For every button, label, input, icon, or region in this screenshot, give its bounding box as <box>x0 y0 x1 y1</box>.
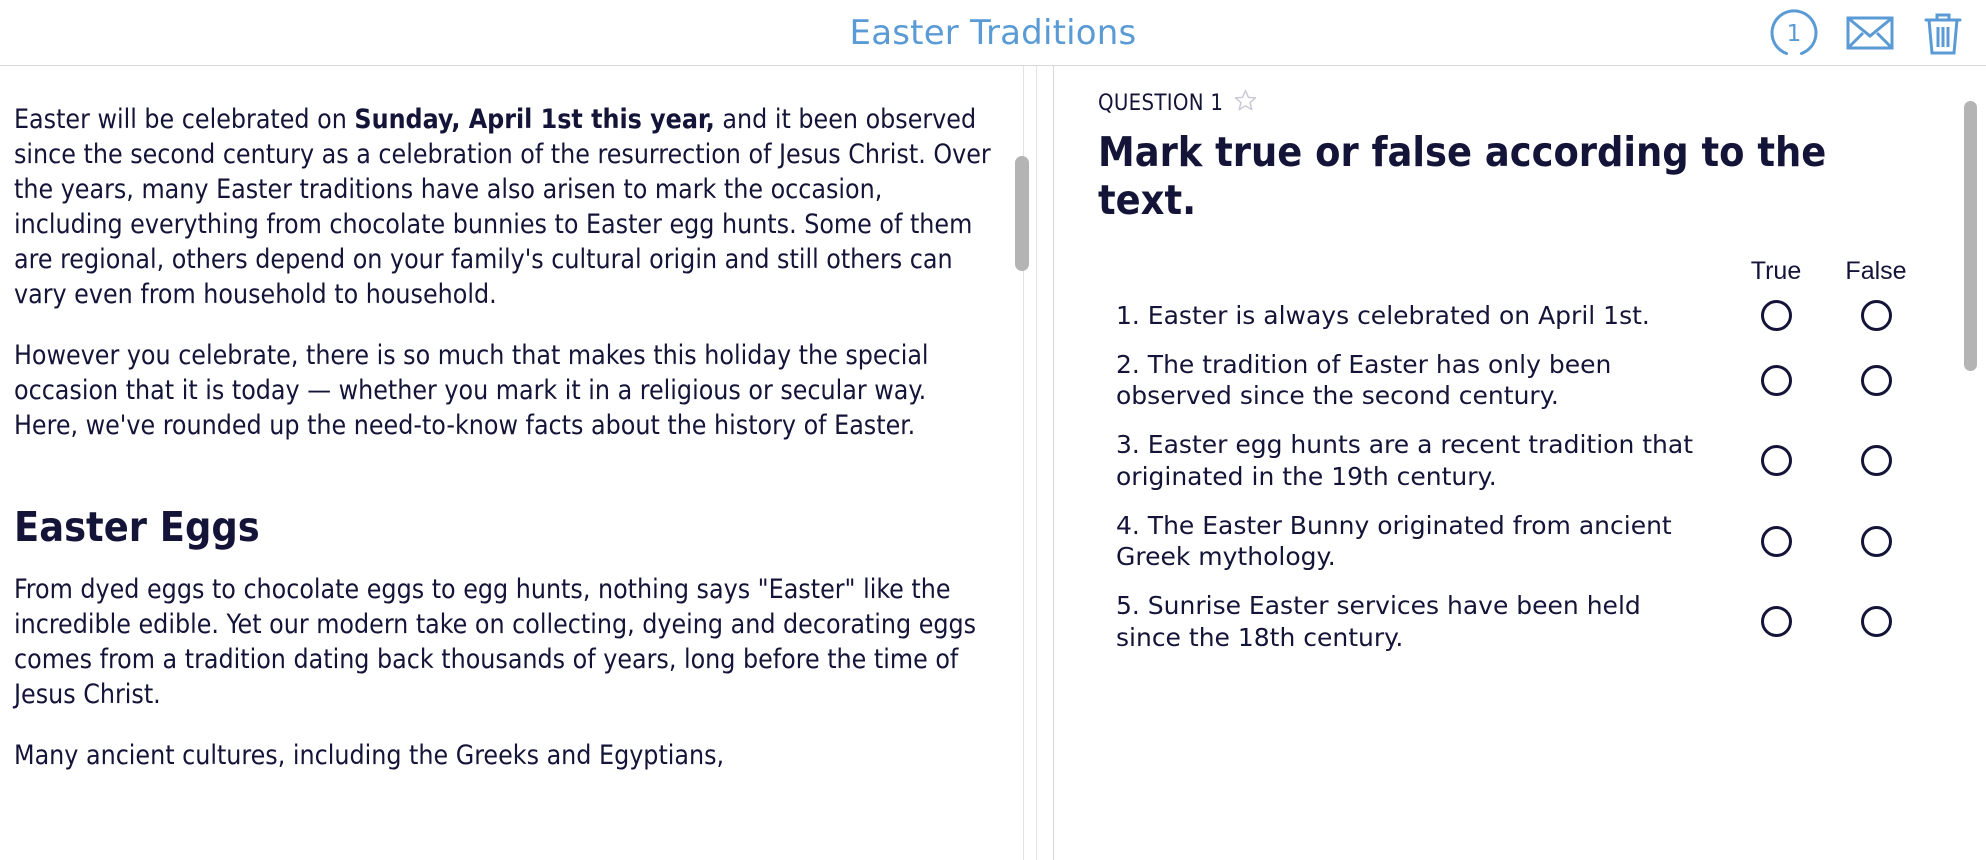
radio-cell-false <box>1826 526 1926 557</box>
question-item-row: 5. Sunrise Easter services have been hel… <box>1098 590 1926 654</box>
question-eyebrow: QUESTION 1 <box>1098 88 1926 119</box>
radio-cell-false <box>1826 300 1926 331</box>
question-item-text: 4. The Easter Bunny originated from anci… <box>1098 510 1726 574</box>
radio-cell-true <box>1726 606 1826 637</box>
question-item-text: 1. Easter is always celebrated on April … <box>1098 300 1726 332</box>
radio-cell-true <box>1726 445 1826 476</box>
radio-true-3[interactable] <box>1761 445 1792 476</box>
question-counter-value: 1 <box>1787 23 1802 46</box>
radio-cell-false <box>1826 445 1926 476</box>
article-paragraph: Easter will be celebrated on Sunday, Apr… <box>14 102 993 312</box>
radio-true-1[interactable] <box>1761 300 1792 331</box>
radio-cell-true <box>1726 300 1826 331</box>
question-item-row: 1. Easter is always celebrated on April … <box>1098 300 1926 332</box>
column-header-false: False <box>1826 259 1926 284</box>
article-paragraph: However you celebrate, there is so much … <box>14 338 993 443</box>
article-paragraph: From dyed eggs to chocolate eggs to egg … <box>14 572 993 712</box>
radio-true-4[interactable] <box>1761 526 1792 557</box>
question-item-text: 3. Easter egg hunts are a recent traditi… <box>1098 429 1726 493</box>
article-run: From dyed eggs to chocolate eggs to egg … <box>14 574 976 710</box>
radio-false-3[interactable] <box>1861 445 1892 476</box>
question-item-text: 2. The tradition of Easter has only been… <box>1098 349 1726 413</box>
question-item-text: 5. Sunrise Easter services have been hel… <box>1098 590 1726 654</box>
article-section-heading: Easter Eggs <box>14 505 993 550</box>
article-run-bold: Sunday, April 1st this year, <box>354 104 714 135</box>
app-header: Easter Traditions 1 <box>0 0 1986 66</box>
question-scrollbar-thumb[interactable] <box>1964 101 1977 371</box>
true-false-grid: True False 1. Easter is always celebrate… <box>1098 259 1926 654</box>
article-run: Many ancient cultures, including the Gre… <box>14 740 724 771</box>
radio-false-5[interactable] <box>1861 606 1892 637</box>
question-item-row: 4. The Easter Bunny originated from anci… <box>1098 510 1926 574</box>
question-content: QUESTION 1 Mark true or false according … <box>1054 66 1986 654</box>
radio-true-5[interactable] <box>1761 606 1792 637</box>
article-content: Easter will be celebrated on Sunday, Apr… <box>0 66 1053 773</box>
article-run: Easter will be celebrated on <box>14 104 354 135</box>
radio-cell-false <box>1826 606 1926 637</box>
article-paragraph: Many ancient cultures, including the Gre… <box>14 738 993 773</box>
radio-cell-true <box>1726 365 1826 396</box>
radio-true-2[interactable] <box>1761 365 1792 396</box>
article-scrollbar-thumb[interactable] <box>1015 156 1029 271</box>
star-outline-icon[interactable] <box>1233 88 1258 119</box>
column-header-true: True <box>1726 259 1826 284</box>
trash-icon[interactable] <box>1922 10 1964 56</box>
article-run: However you celebrate, there is so much … <box>14 340 929 441</box>
app-root: Easter Traditions 1 <box>0 0 1986 860</box>
envelope-icon[interactable] <box>1846 14 1894 52</box>
article-pane: Easter will be celebrated on Sunday, Apr… <box>0 66 1053 860</box>
question-item-row: 2. The tradition of Easter has only been… <box>1098 349 1926 413</box>
radio-cell-false <box>1826 365 1926 396</box>
question-pane: QUESTION 1 Mark true or false according … <box>1054 66 1986 860</box>
question-item-row: 3. Easter egg hunts are a recent traditi… <box>1098 429 1926 493</box>
body-split: Easter will be celebrated on Sunday, Apr… <box>0 66 1986 860</box>
page-title: Easter Traditions <box>850 16 1137 50</box>
radio-cell-true <box>1726 526 1826 557</box>
radio-false-2[interactable] <box>1861 365 1892 396</box>
header-actions: 1 <box>1770 0 1964 66</box>
radio-false-4[interactable] <box>1861 526 1892 557</box>
question-number-label: QUESTION 1 <box>1098 91 1223 116</box>
radio-false-1[interactable] <box>1861 300 1892 331</box>
true-false-header-row: True False <box>1098 259 1926 284</box>
question-prompt: Mark true or false according to the text… <box>1098 129 1888 225</box>
question-counter-badge[interactable]: 1 <box>1770 9 1818 57</box>
